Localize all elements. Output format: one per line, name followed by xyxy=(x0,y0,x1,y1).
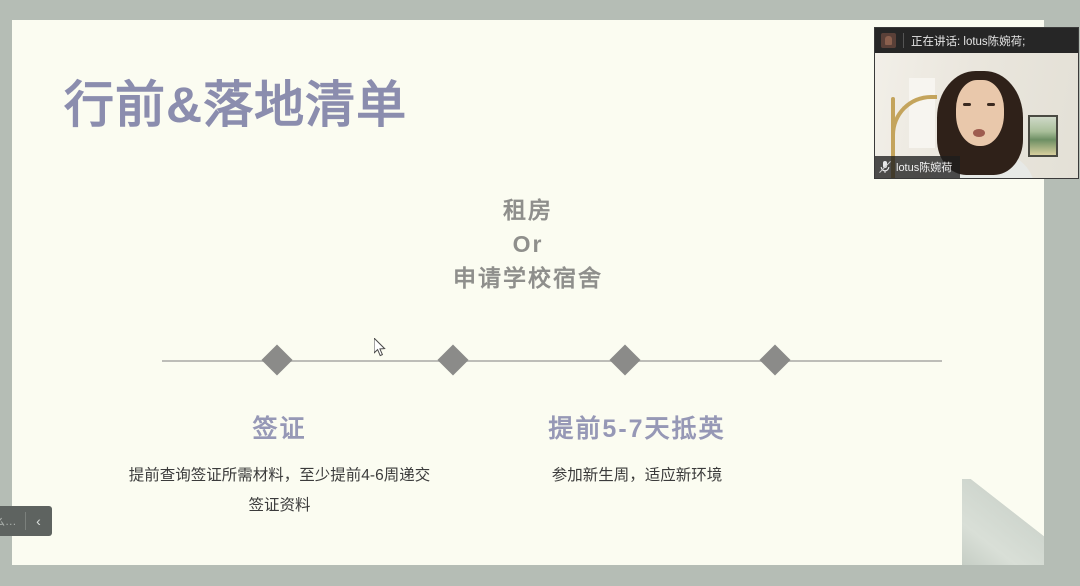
center-line-3: 申请学校宿舍 xyxy=(12,261,1044,295)
bottom-left-toolbar[interactable]: 什么… ‹ xyxy=(0,506,52,536)
section-arrival-body: 参加新生周，适应新环境 xyxy=(492,461,782,491)
page-title: 行前&落地清单 xyxy=(64,77,407,135)
person-eye-left xyxy=(963,103,971,106)
section-visa: 签证 提前查询签证所需材料，至少提前4-6周递交签证资料 xyxy=(127,413,432,521)
section-visa-body: 提前查询签证所需材料，至少提前4-6周递交签证资料 xyxy=(127,461,432,521)
wall-painting xyxy=(1028,115,1058,157)
center-line-1: 租房 xyxy=(12,193,1044,227)
header-divider xyxy=(903,33,904,48)
center-line-2: Or xyxy=(12,227,1044,261)
timeline-axis xyxy=(162,360,942,362)
timeline-marker-4 xyxy=(760,344,791,375)
section-arrival: 提前5-7天抵英 参加新生周，适应新环境 xyxy=(492,413,782,491)
timeline-marker-2 xyxy=(437,344,468,375)
timeline-marker-3 xyxy=(610,344,641,375)
speaker-avatar-icon xyxy=(881,33,896,48)
timeline-marker-1 xyxy=(262,344,293,375)
page-curl-decoration xyxy=(962,479,1044,565)
video-thumbnail-panel[interactable]: 正在讲话: lotus陈婉荷; lotus陈婉荷 xyxy=(874,27,1079,179)
participant-name-tag: lotus陈婉荷 xyxy=(875,156,960,178)
person-eye-right xyxy=(987,103,995,106)
section-arrival-title: 提前5-7天抵英 xyxy=(492,413,782,445)
center-text-block: 租房 Or 申请学校宿舍 xyxy=(12,193,1044,295)
microphone-muted-icon xyxy=(879,160,891,174)
previous-button[interactable]: ‹ xyxy=(26,506,52,536)
toolbar-tab-label[interactable]: 什么… xyxy=(0,506,25,536)
video-header-bar: 正在讲话: lotus陈婉荷; xyxy=(875,28,1078,53)
participant-name-label: lotus陈婉荷 xyxy=(896,159,952,175)
person-mouth xyxy=(973,129,985,137)
speaking-status-label: 正在讲话: lotus陈婉荷; xyxy=(911,33,1025,49)
section-visa-title: 签证 xyxy=(127,413,432,445)
